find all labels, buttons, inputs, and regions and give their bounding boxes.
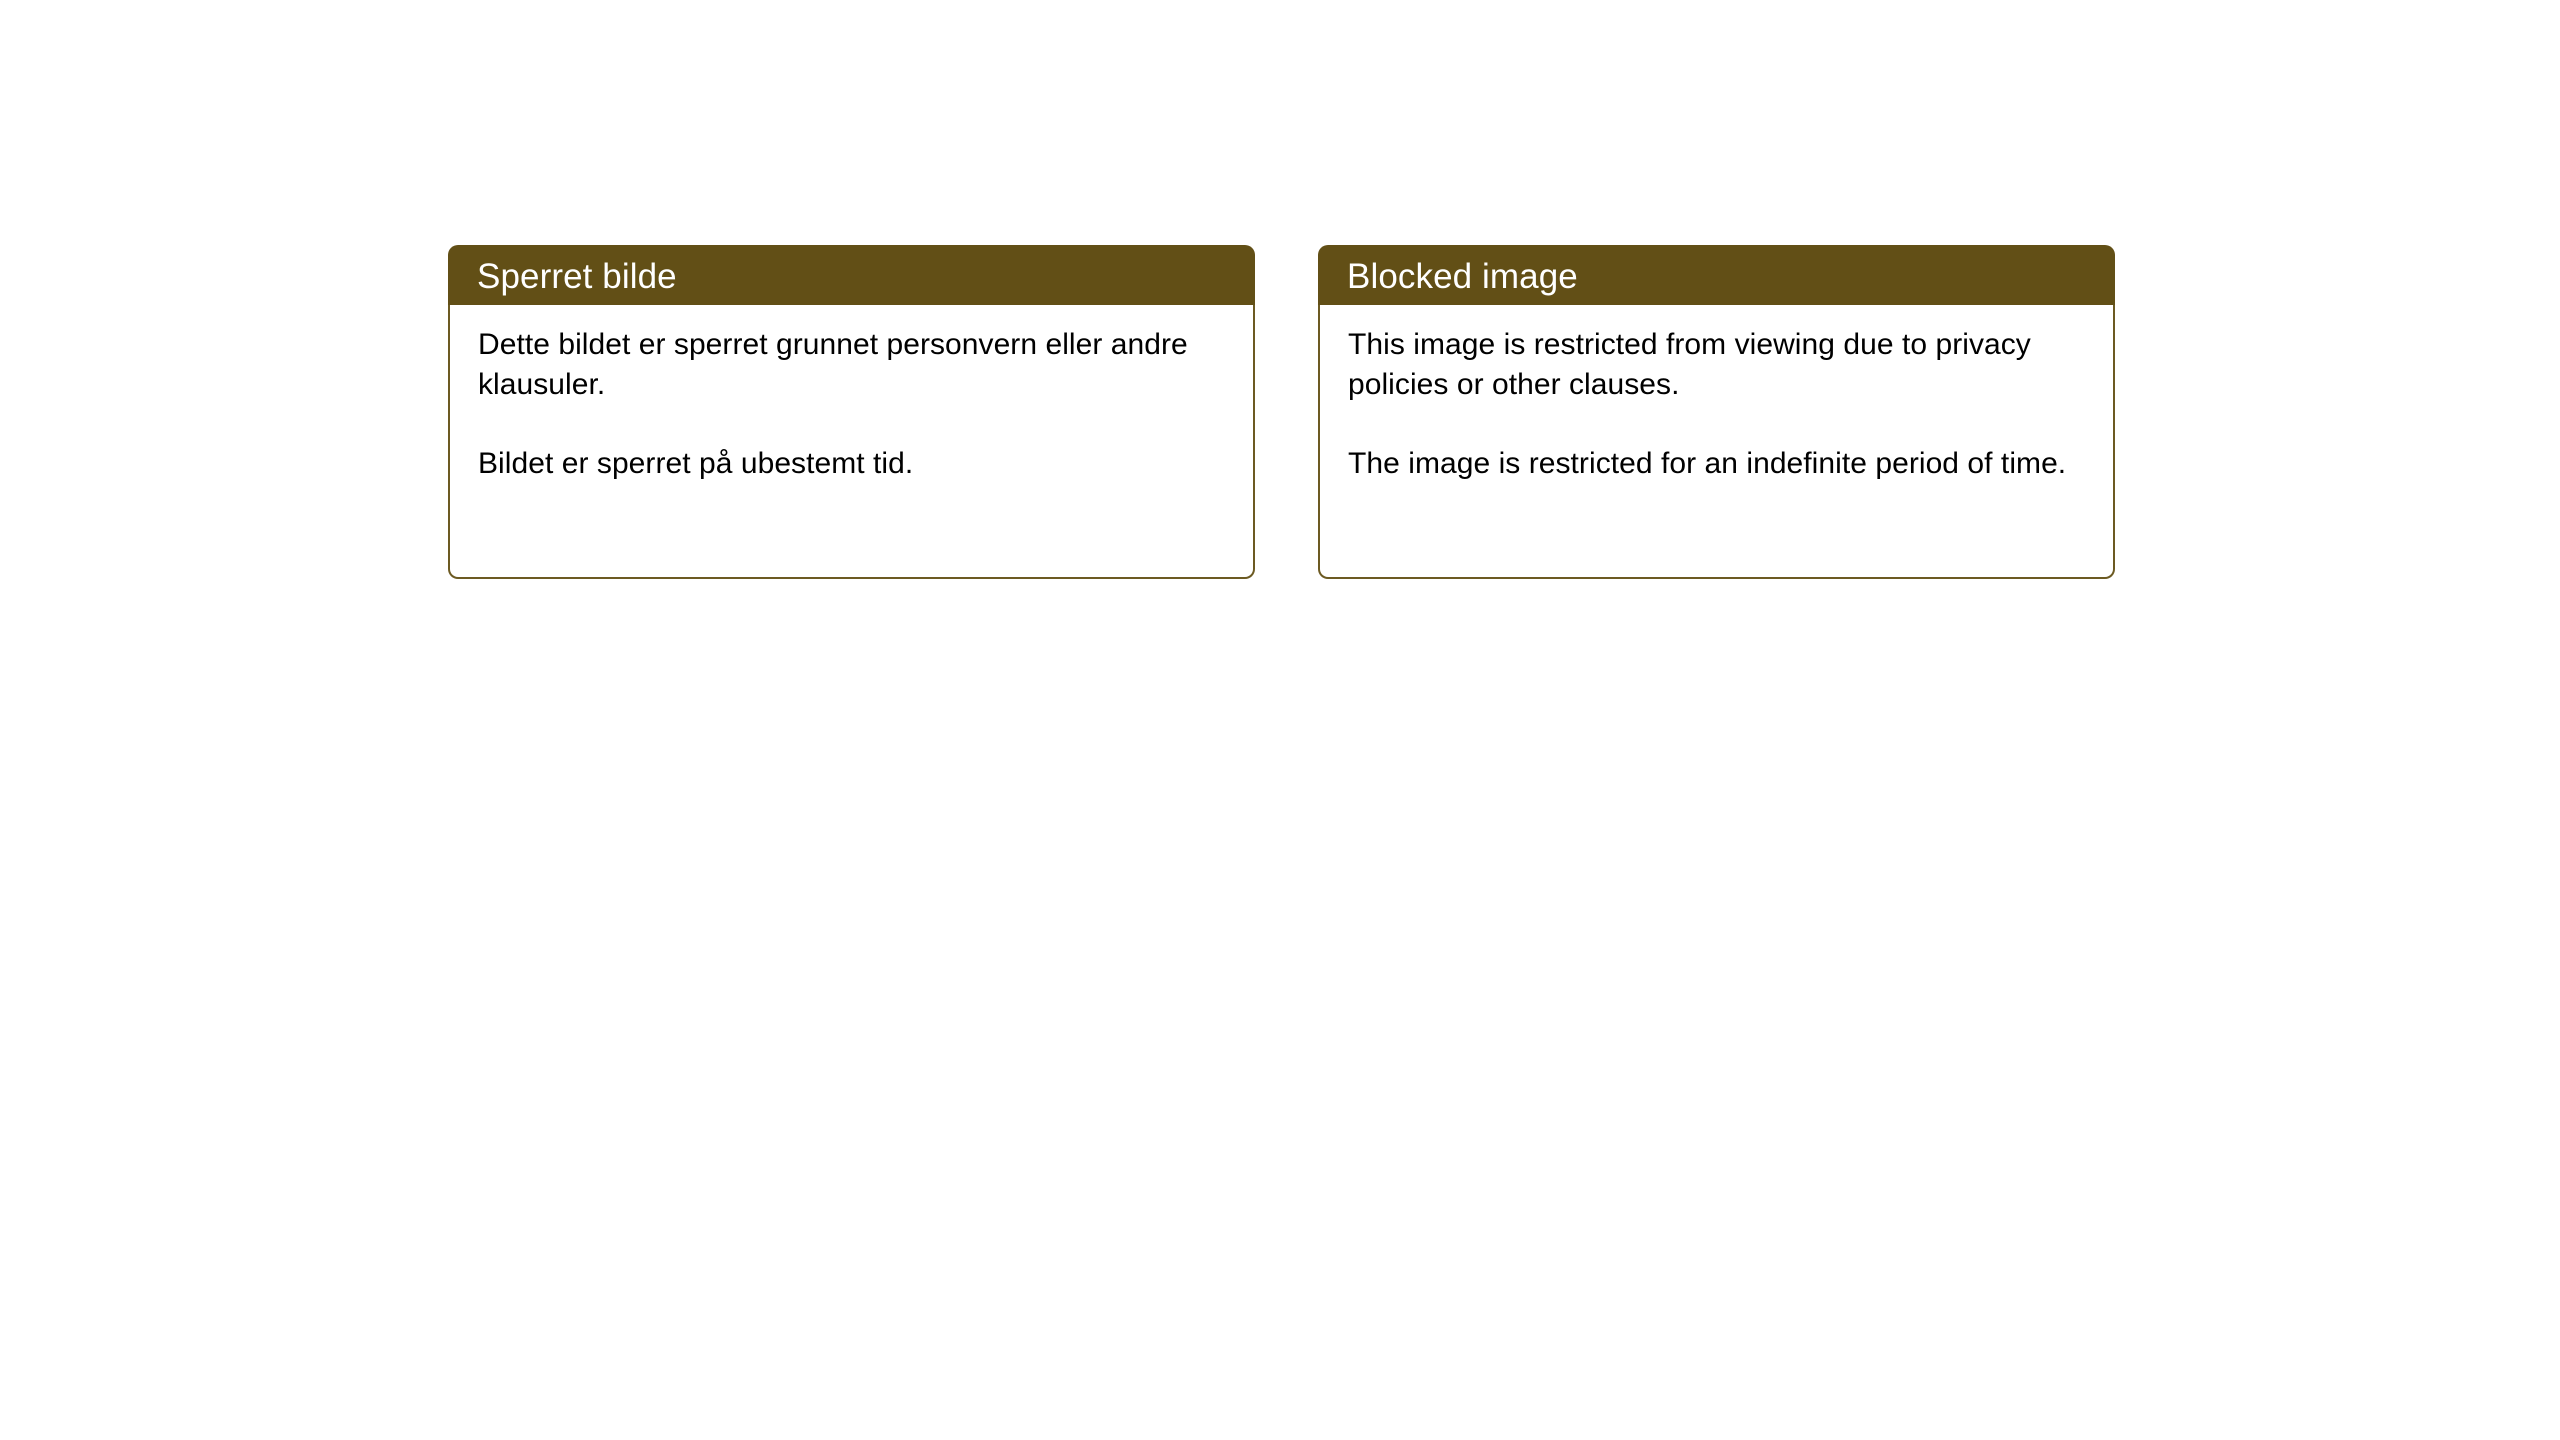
notice-paragraph-duration-english: The image is restricted for an indefinit… [1348, 444, 2087, 484]
notice-paragraph-duration-norwegian: Bildet er sperret på ubestemt tid. [478, 444, 1227, 484]
notice-header-norwegian: Sperret bilde [448, 245, 1255, 305]
page-canvas: Sperret bilde Dette bildet er sperret gr… [0, 0, 2560, 1440]
blocked-image-notice-english: Blocked image This image is restricted f… [1318, 245, 2115, 579]
blocked-image-notice-norwegian: Sperret bilde Dette bildet er sperret gr… [448, 245, 1255, 579]
notice-title-norwegian: Sperret bilde [477, 259, 677, 294]
notice-title-english: Blocked image [1347, 259, 1578, 294]
notice-paragraph-reason-english: This image is restricted from viewing du… [1348, 325, 2087, 404]
notice-paragraph-reason-norwegian: Dette bildet er sperret grunnet personve… [478, 325, 1227, 404]
notice-body-norwegian: Dette bildet er sperret grunnet personve… [448, 305, 1255, 579]
notice-header-english: Blocked image [1318, 245, 2115, 305]
notice-body-english: This image is restricted from viewing du… [1318, 305, 2115, 579]
